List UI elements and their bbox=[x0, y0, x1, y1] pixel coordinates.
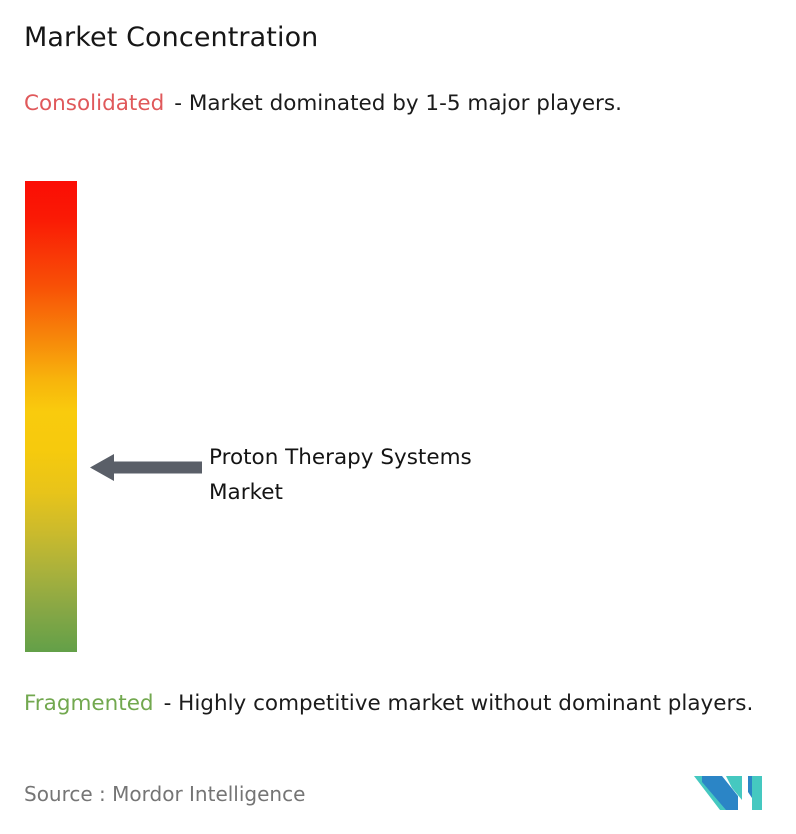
marker-label: Proton Therapy Systems Market bbox=[209, 440, 629, 510]
legend-description-fragmented: - Highly competitive market without domi… bbox=[164, 691, 754, 716]
marker-label-line-2: Market bbox=[209, 475, 629, 510]
arrow-left-icon bbox=[90, 450, 202, 485]
marker-label-line-1: Proton Therapy Systems bbox=[209, 440, 629, 475]
source-attribution: Source : Mordor Intelligence bbox=[24, 782, 305, 806]
page-title: Market Concentration bbox=[24, 22, 318, 53]
legend-key-consolidated: Consolidated bbox=[24, 91, 164, 116]
source-name: Mordor Intelligence bbox=[112, 782, 305, 806]
market-concentration-chart: Market Concentration Consolidated- Marke… bbox=[0, 0, 796, 834]
legend-key-fragmented: Fragmented bbox=[24, 691, 154, 716]
legend-consolidated: Consolidated- Market dominated by 1-5 ma… bbox=[24, 88, 784, 119]
concentration-gradient-bar bbox=[25, 181, 77, 652]
legend-description-consolidated: - Market dominated by 1-5 major players. bbox=[174, 91, 622, 116]
legend-fragmented: Fragmented- Highly competitive market wi… bbox=[24, 688, 784, 719]
mordor-intelligence-logo-icon bbox=[692, 770, 772, 812]
source-label: Source : bbox=[24, 782, 106, 806]
